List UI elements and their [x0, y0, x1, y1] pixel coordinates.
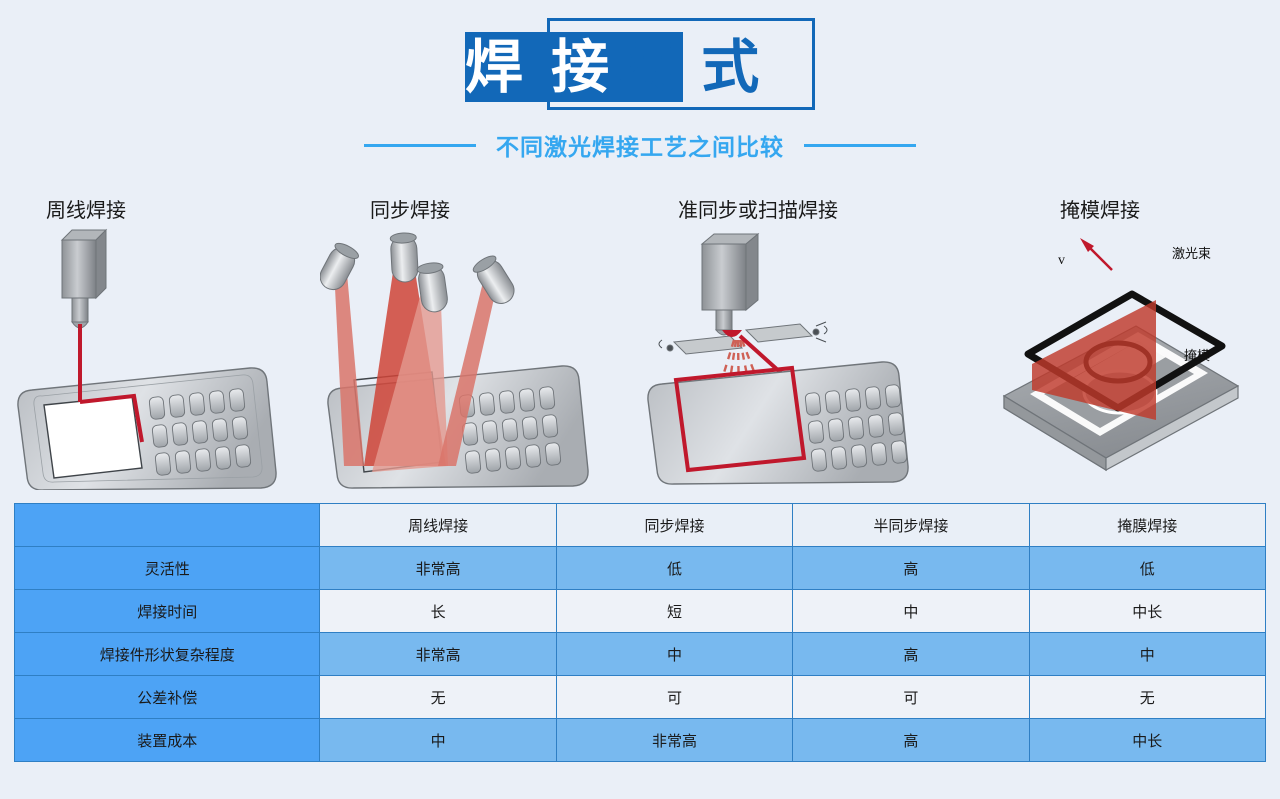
page-title-block: 焊 接模 式: [0, 18, 1280, 118]
table-cell: 中长: [1029, 590, 1265, 633]
comparison-table: 周线焊接 同步焊接 半同步焊接 掩膜焊接 灵活性 非常高 低 高 低 焊接时间 …: [14, 503, 1266, 762]
table-row: 灵活性 非常高 低 高 低: [15, 547, 1266, 590]
table-row-label: 焊接时间: [15, 590, 320, 633]
table-cell: 中长: [1029, 719, 1265, 762]
table-row: 装置成本 中 非常高 高 中长: [15, 719, 1266, 762]
mask-label: 掩模: [1184, 348, 1210, 363]
table-cell: 无: [1029, 676, 1265, 719]
table-row-label: 灵活性: [15, 547, 320, 590]
table-cell: 可: [793, 676, 1029, 719]
mask-welding-illustration: v 激光束 掩模: [960, 190, 1280, 490]
subtitle-block: 不同激光焊接工艺之间比较: [0, 128, 1280, 162]
table-row-label: 焊接件形状复杂程度: [15, 633, 320, 676]
table-row-label: 公差补偿: [15, 676, 320, 719]
title-highlight-text: 焊 接: [465, 35, 615, 100]
scanning-welding-illustration: [640, 190, 960, 490]
table-cell: 中: [793, 590, 1029, 633]
diagram-scanning-welding: 准同步或扫描焊接: [640, 190, 960, 490]
laser-head-3: [702, 234, 758, 335]
subtitle-rule-right: [804, 144, 916, 147]
table-corner-cell: [15, 504, 320, 547]
table-cell: 高: [793, 633, 1029, 676]
table-col-header-2: 半同步焊接: [793, 504, 1029, 547]
laser-beam-label: 激光束: [1172, 246, 1211, 261]
table-cell: 中: [556, 633, 792, 676]
velocity-arrow-4: [1080, 238, 1112, 270]
diagram-panels: 周线焊接: [0, 190, 1280, 490]
table-col-header-0: 周线焊接: [320, 504, 556, 547]
table-header-row: 周线焊接 同步焊接 半同步焊接 掩膜焊接: [15, 504, 1266, 547]
table-col-header-3: 掩膜焊接: [1029, 504, 1265, 547]
contour-welding-illustration: [14, 190, 320, 490]
page-title: 焊 接模 式: [465, 26, 815, 110]
title-rest-text: 模 式: [615, 35, 765, 100]
table-cell: 低: [1029, 547, 1265, 590]
laser-head-1: [62, 230, 106, 328]
table-row: 焊接件形状复杂程度 非常高 中 高 中: [15, 633, 1266, 676]
table-cell: 非常高: [320, 633, 556, 676]
diagram-simultaneous-welding: 同步焊接: [320, 190, 640, 490]
table-cell: 无: [320, 676, 556, 719]
diagram-contour-welding: 周线焊接: [14, 190, 320, 490]
workpiece-phone-1: [18, 368, 276, 490]
table-cell: 中: [320, 719, 556, 762]
velocity-label: v: [1058, 253, 1065, 268]
table-row: 焊接时间 长 短 中 中长: [15, 590, 1266, 633]
table-cell: 可: [556, 676, 792, 719]
table-cell: 非常高: [320, 547, 556, 590]
table-row-label: 装置成本: [15, 719, 320, 762]
diagram-mask-welding: 掩模焊接: [960, 190, 1280, 490]
subtitle-text: 不同激光焊接工艺之间比较: [496, 128, 784, 162]
table-cell: 高: [793, 547, 1029, 590]
table-cell: 高: [793, 719, 1029, 762]
table-cell: 短: [556, 590, 792, 633]
simultaneous-welding-illustration: [320, 190, 640, 490]
table-cell: 非常高: [556, 719, 792, 762]
table-cell: 长: [320, 590, 556, 633]
subtitle-rule-left: [364, 144, 476, 147]
workpiece-phone-3: [648, 362, 908, 484]
table-cell: 中: [1029, 633, 1265, 676]
table-col-header-1: 同步焊接: [556, 504, 792, 547]
comparison-table-wrap: 周线焊接 同步焊接 半同步焊接 掩膜焊接 灵活性 非常高 低 高 低 焊接时间 …: [14, 503, 1266, 762]
table-cell: 低: [556, 547, 792, 590]
table-row: 公差补偿 无 可 可 无: [15, 676, 1266, 719]
